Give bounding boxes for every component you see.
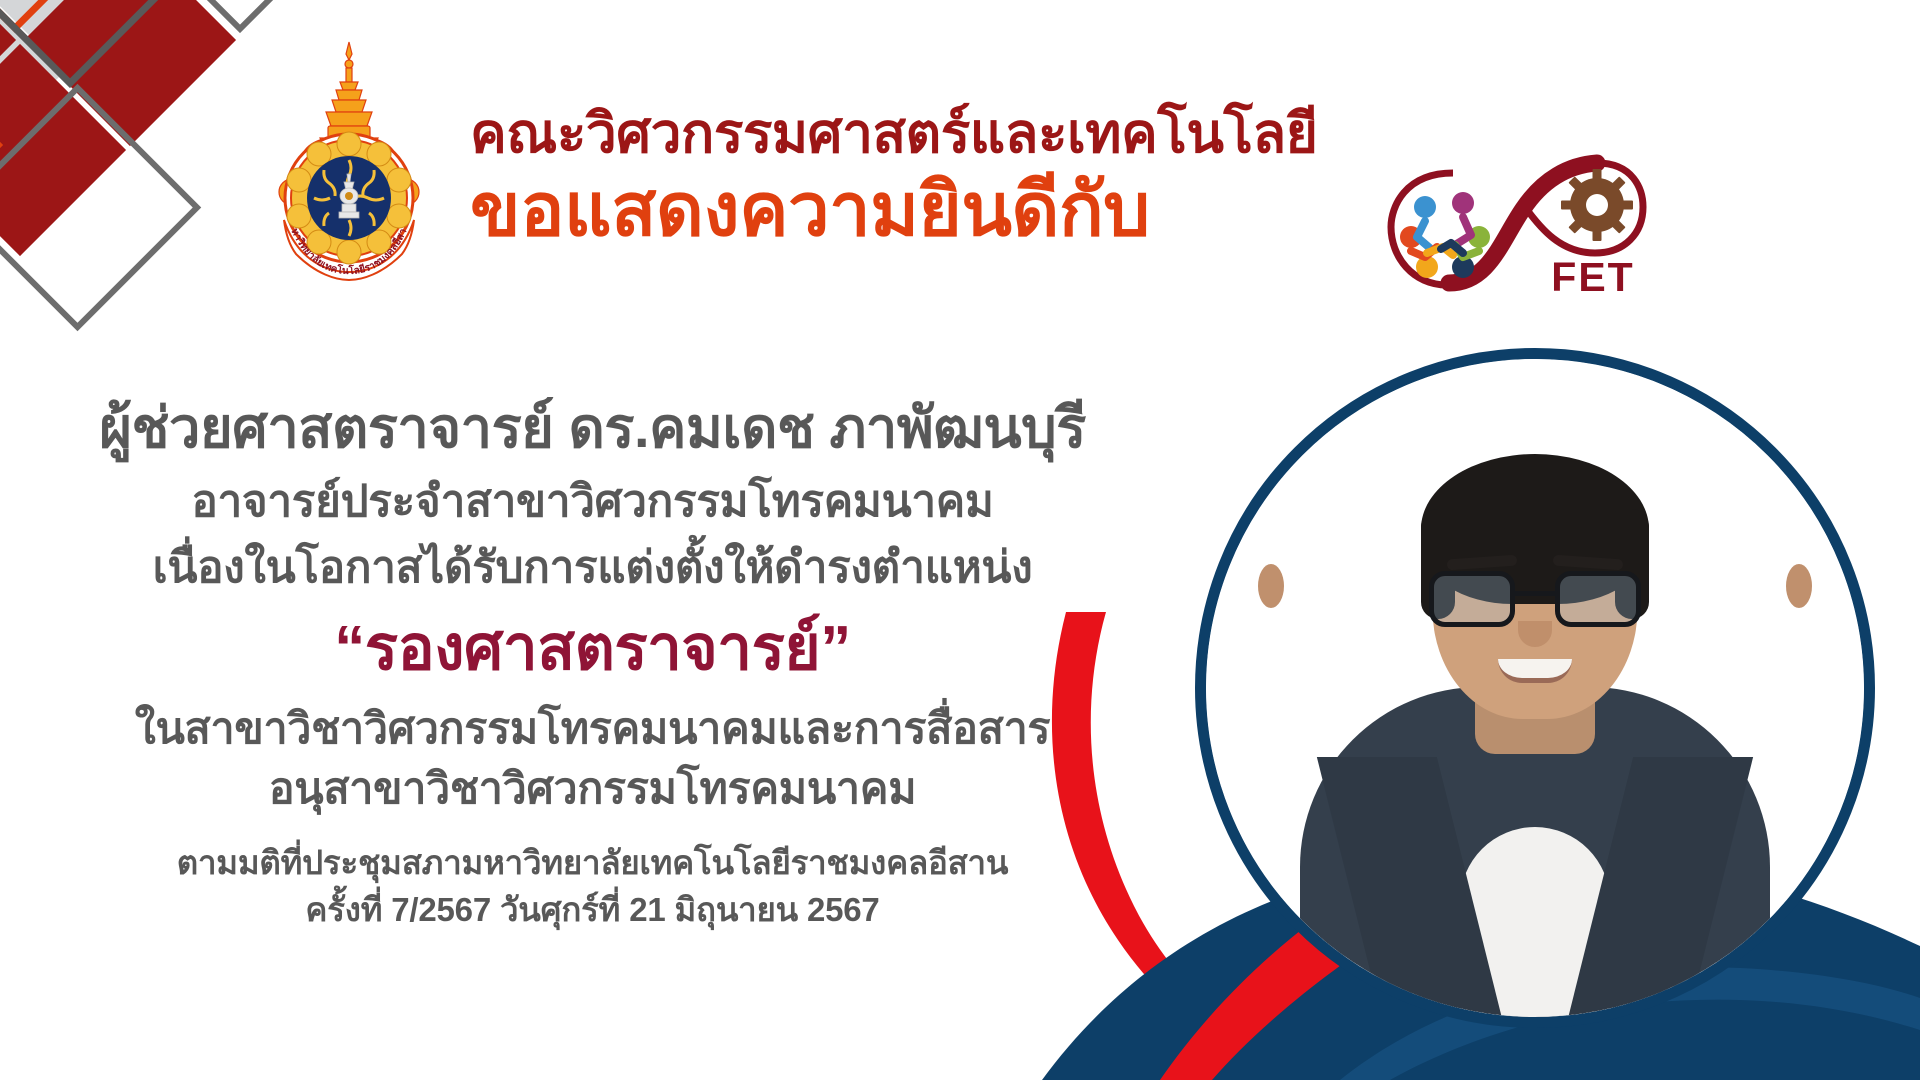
subfield-line: อนุสาขาวิชาวิศวกรรมโทรคมนาคม: [0, 763, 1185, 817]
body-text-block: ผู้ช่วยศาสตราจารย์ ดร.คมเดช ภาพัฒนบุรี อ…: [0, 395, 1185, 932]
field-line: ในสาขาวิชาวิศวกรรมโทรคมนาคมและการสื่อสาร: [0, 703, 1185, 757]
new-academic-title: “รองศาสตราจารย์”: [0, 612, 1185, 686]
meeting-line: ครั้งที่ 7/2567 วันศุกร์ที่ 21 มิถุนายน …: [0, 889, 1185, 932]
portrait: [1195, 348, 1875, 1028]
portrait-photo: [1206, 359, 1864, 1017]
honoree-name: ผู้ช่วยศาสตราจารย์ ดร.คมเดช ภาพัฒนบุรี: [0, 395, 1185, 461]
glasses-icon: [1429, 571, 1641, 627]
resolution-line: ตามมติที่ประชุมสภามหาวิทยาลัยเทคโนโลยีรา…: [0, 842, 1185, 885]
congratulation-poster: มหาวิทยาลัยเทคโนโลยีราชมงคลอีสาน คณะวิศว…: [0, 0, 1920, 1080]
rmuti-emblem-icon: มหาวิทยาลัยเทคโนโลยีราชมงคลอีสาน: [262, 40, 437, 285]
portrait-ring: [1195, 348, 1875, 1028]
honoree-position: อาจารย์ประจำสาขาวิศวกรรมโทรคมนาคม: [0, 475, 1185, 529]
occasion-line: เนื่องในโอกาสได้รับการแต่งตั้งให้ดำรงตำแ…: [0, 541, 1185, 595]
